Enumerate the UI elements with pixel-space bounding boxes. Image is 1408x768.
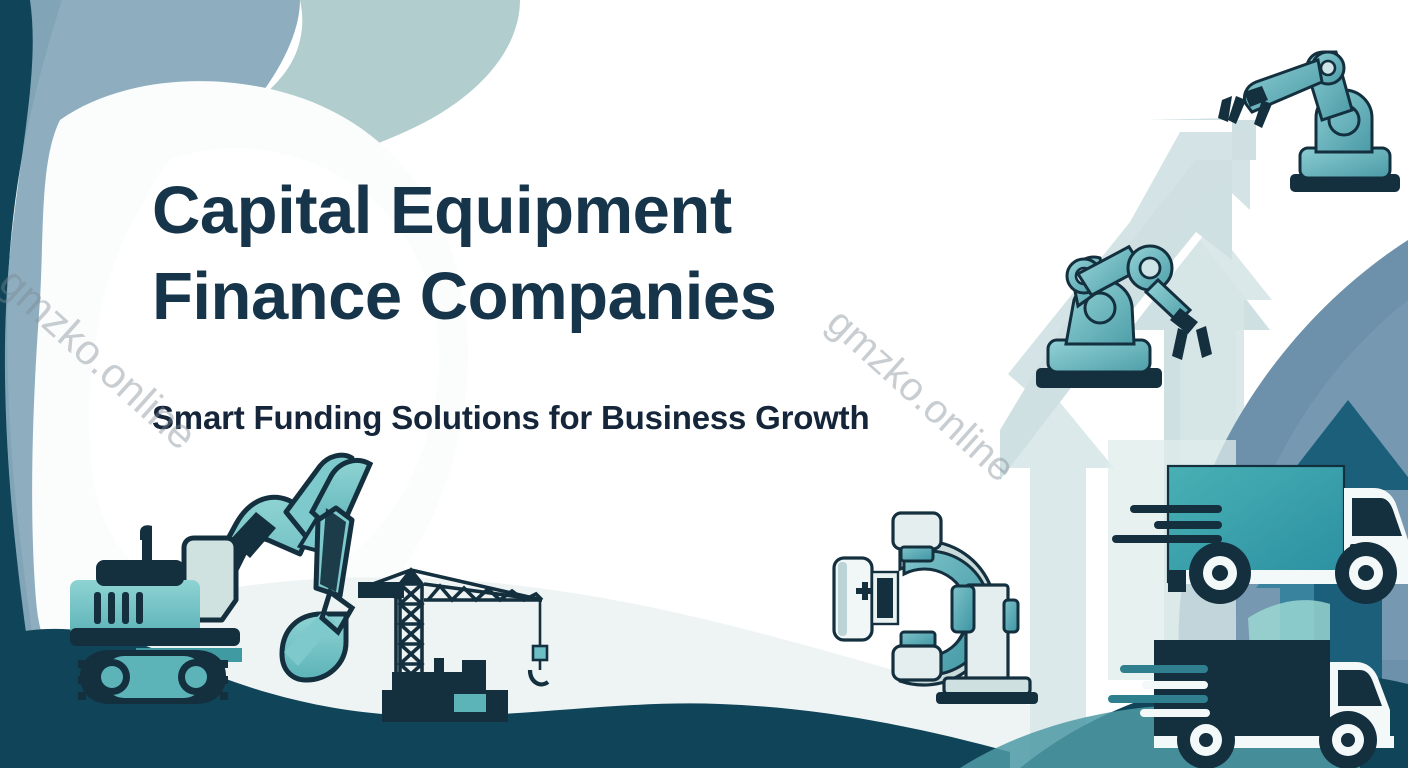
truck2-speed-line-4	[1140, 709, 1210, 717]
truck2-speed-line-1	[1120, 665, 1208, 673]
truck2-light	[1374, 716, 1386, 728]
headline-block: Capital Equipment Finance Companies Smar…	[152, 168, 1012, 438]
truck2-speed-line-2	[1142, 681, 1208, 689]
subtitle: Smart Funding Solutions for Business Gro…	[152, 340, 1012, 438]
poster-canvas: Capital Equipment Finance Companies Smar…	[0, 0, 1408, 768]
title-line-1: Capital Equipment	[152, 168, 1012, 254]
title-line-2: Finance Companies	[152, 254, 1012, 340]
truck2-speed-line-3	[1108, 695, 1208, 703]
